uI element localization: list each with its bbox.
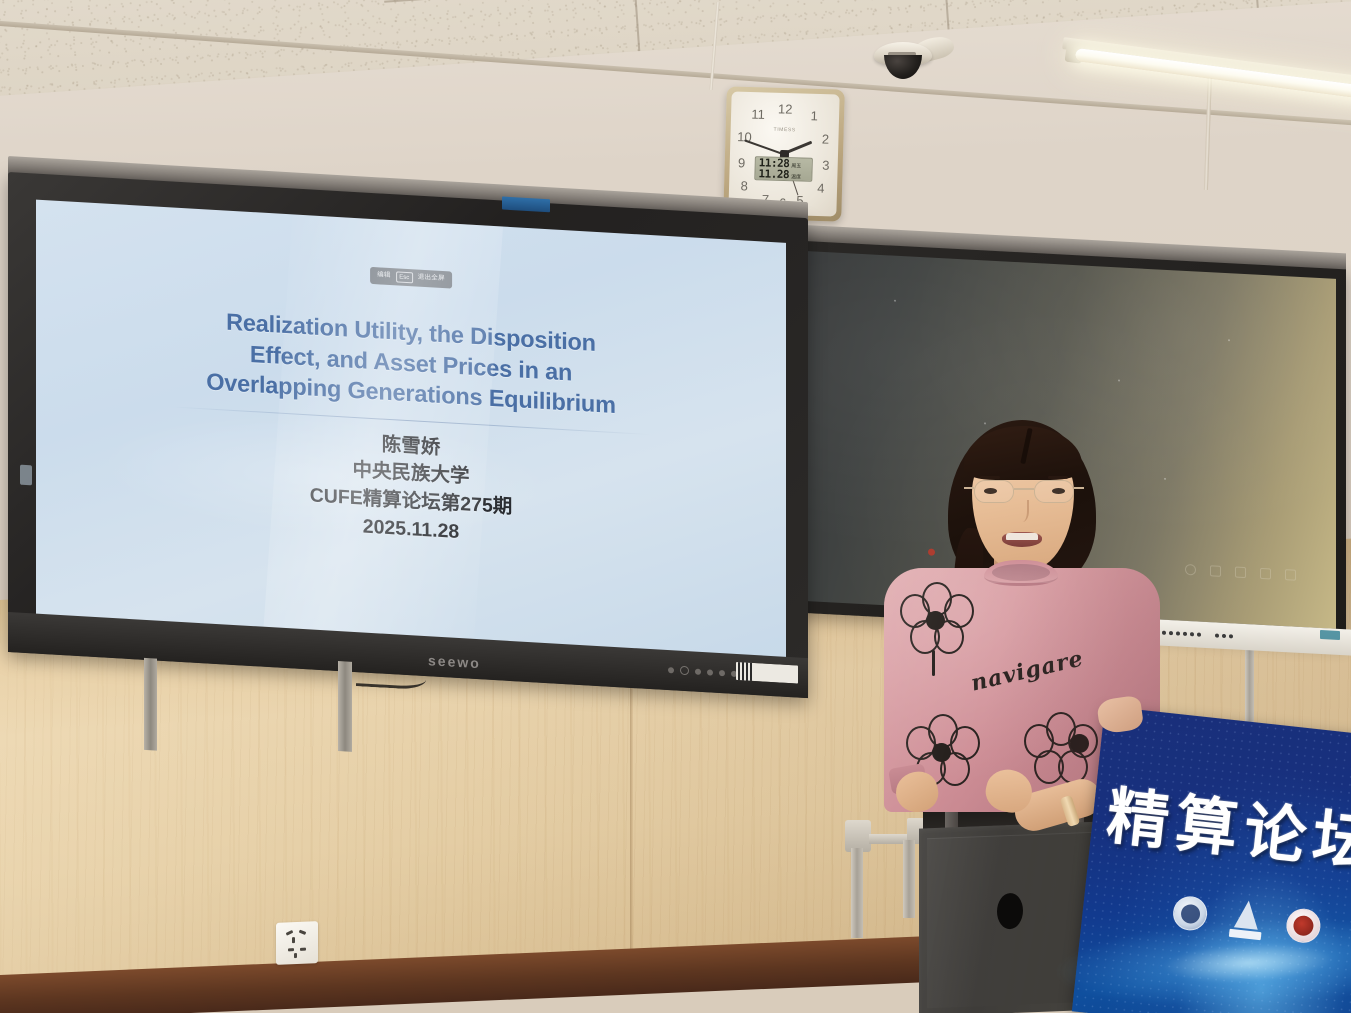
slide-fullscreen-toolbar[interactable]: 编辑 Esc 退出全屏 (370, 267, 452, 289)
presentation-slide[interactable]: 编辑 Esc 退出全屏 Realization Utility, the Dis… (36, 200, 786, 661)
settings-icon[interactable] (1285, 569, 1296, 581)
glasses-temple-left (964, 487, 974, 489)
menu-icon[interactable] (1210, 565, 1221, 577)
volume-up-icon[interactable] (707, 669, 713, 675)
clock-numeral: 9 (738, 155, 746, 170)
eyebrow-left (980, 476, 1000, 479)
clock-numeral: 3 (822, 157, 830, 172)
volume-down-icon[interactable] (695, 668, 701, 674)
clock-minute-hand (744, 139, 784, 155)
nose (1016, 500, 1029, 522)
pen-icon[interactable] (1235, 567, 1246, 579)
glasses-bridge (1014, 488, 1034, 490)
university-seal-logo (1171, 895, 1208, 932)
display-support-leg (144, 658, 157, 751)
lens-right (1034, 480, 1074, 503)
clock-brand: TIMESS (773, 127, 795, 134)
lcd-date: 11.28 (758, 168, 789, 180)
banner-board: 精算论坛 (1072, 706, 1351, 1013)
display-blue-sticker (502, 196, 550, 212)
teeth (1006, 533, 1038, 540)
toolbar-edit-label[interactable]: 编辑 (377, 273, 391, 280)
slide-content: Realization Utility, the Disposition Eff… (36, 296, 786, 566)
institute-pyramid-logo (1229, 899, 1265, 940)
home-button-icon[interactable] (680, 666, 689, 676)
qr-code-sticker (736, 662, 798, 684)
clock-numeral: 11 (751, 107, 765, 122)
wall-outlet[interactable] (276, 921, 318, 965)
lecture-hall-scene: TIMESS 12 1 2 3 4 5 6 7 8 9 10 11 11:28 … (0, 0, 1351, 1013)
bracket-post (851, 848, 863, 938)
eraser-icon[interactable] (1260, 568, 1271, 580)
glasses-temple-right (1074, 487, 1084, 489)
clock-numeral: 12 (778, 101, 793, 116)
interactive-display: 编辑 Esc 退出全屏 Realization Utility, the Dis… (8, 172, 808, 728)
source-button-icon[interactable] (719, 669, 725, 675)
clock-numeral: 1 (810, 108, 818, 123)
association-red-logo (1285, 907, 1322, 944)
clock-numeral: 8 (740, 178, 748, 193)
event-banner: 精算论坛 (1072, 706, 1351, 1013)
power-icon[interactable] (1185, 564, 1196, 576)
slide-title: Realization Utility, the Disposition Eff… (36, 296, 786, 431)
display-support-leg (338, 661, 352, 752)
toolbar-esc-key[interactable]: Esc (396, 271, 413, 283)
display-bezel: 编辑 Esc 退出全屏 Realization Utility, the Dis… (8, 172, 808, 698)
clock-numeral: 2 (822, 132, 830, 147)
clock-lcd-display: 11:28 周五 11.28 温度 (754, 156, 813, 182)
toolbar-exit-fullscreen-label[interactable]: 退出全屏 (418, 275, 445, 283)
display-side-tab-button[interactable] (20, 465, 32, 486)
lcd-temp: 温度 (791, 175, 801, 180)
power-button-icon[interactable] (668, 667, 674, 673)
display-brand-label: seewo (428, 652, 481, 671)
clock-numeral: 4 (817, 180, 825, 195)
control-strip-badge (1320, 630, 1340, 640)
slide-subtitle: 陈雪娇 中央民族大学 CUFE精算论坛第275期 2025.11.28 (36, 411, 786, 565)
display-cable (356, 660, 426, 690)
dome-camera-icon (874, 36, 948, 82)
camera-dome (884, 55, 922, 79)
lens-left (974, 480, 1014, 503)
eyebrow-right (1048, 476, 1068, 479)
